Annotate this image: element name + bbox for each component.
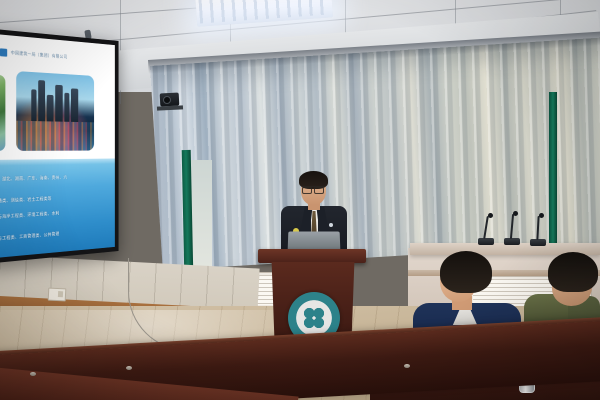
power-outlet: [48, 288, 67, 302]
slide-body-line: 港口航道与海岸工程类、环境工程类、水利: [0, 211, 60, 222]
microphone-base: [504, 238, 520, 245]
door-frame-green: [549, 92, 557, 267]
slide-header: 中国建筑一局（集团）有限公司: [0, 43, 106, 68]
slide-body-line: 京、河南、湖北、湖南、广东、海南、贵州、六: [0, 175, 67, 183]
microphone-base: [478, 238, 494, 245]
microphone-base: [530, 239, 546, 246]
laptop-computer[interactable]: [288, 232, 341, 251]
seated-person-olive-hair: [548, 252, 598, 292]
company-logo-mark: [0, 48, 7, 56]
city-skyline-photo: [16, 71, 94, 150]
microphone-head-icon: [539, 213, 544, 218]
table-hardware-stud: [126, 366, 132, 370]
slide-body-panel: 京、河南、湖北、湖南、广东、海南、贵州、六 气类、暖通类、测绘类、岩土工程类等 …: [0, 158, 115, 258]
camera-lens-icon: [163, 96, 171, 104]
presentation-slide: 中国建筑一局（集团）有限公司 京、河南、湖北、湖南、广东、海南、贵州、六 气类、…: [0, 33, 115, 258]
slide-body-line: 气类、暖通类、测绘类、岩土工程类等: [0, 196, 52, 205]
seated-person-navy-hair: [440, 251, 492, 293]
table-hardware-stud: [404, 364, 410, 368]
conference-room-photo: 中国建筑一局（集团）有限公司 京、河南、湖北、湖南、广东、海南、贵州、六 气类、…: [0, 0, 600, 400]
ceiling-light-fixture: [195, 0, 333, 27]
pleated-window-curtains: [150, 36, 600, 270]
green-landscape-photo: [0, 73, 5, 151]
slide-header-text: 中国建筑一局（集团）有限公司: [11, 50, 68, 60]
projection-screen[interactable]: 中国建筑一局（集团）有限公司 京、河南、湖北、湖南、广东、海南、贵州、六 气类、…: [0, 28, 119, 264]
microphone-head-icon: [488, 213, 493, 218]
slide-body-line: 管理科学与工程类、工商管理类、公共管理: [0, 231, 60, 243]
microphone-head-icon: [513, 211, 518, 216]
door-glass-panel: [190, 160, 212, 272]
eyeglasses-icon: [302, 186, 324, 193]
lectern-top: [258, 249, 366, 263]
presenter-lapel-pin: [329, 223, 333, 227]
table-hardware-stud: [30, 372, 36, 376]
